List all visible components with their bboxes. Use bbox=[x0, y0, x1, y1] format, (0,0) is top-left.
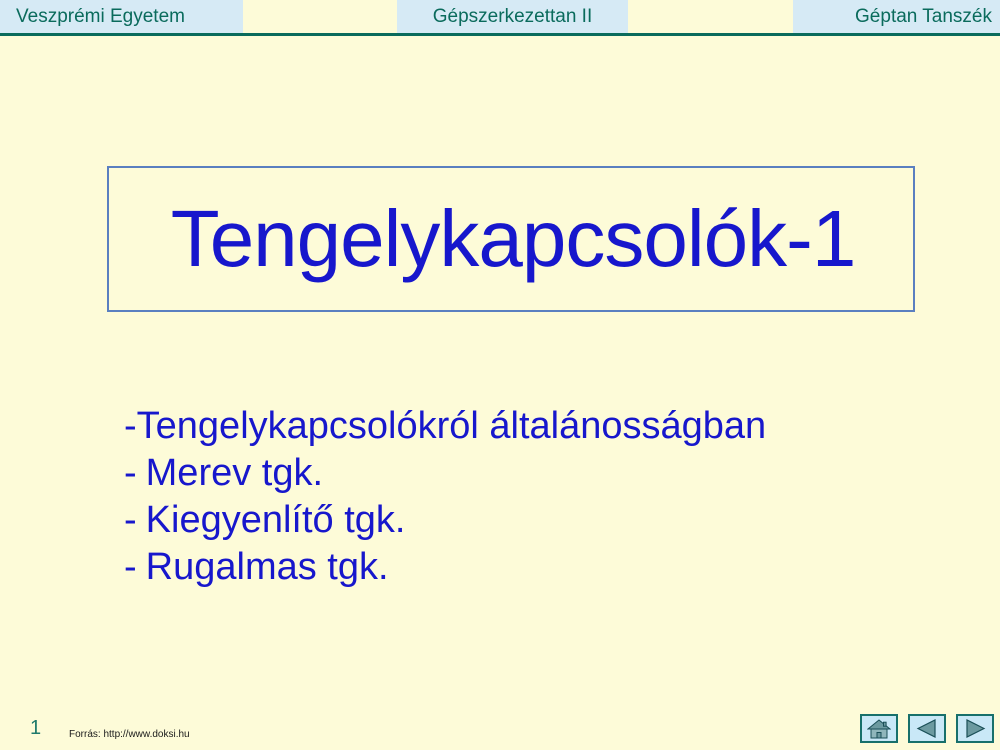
header-university-label: Veszprémi Egyetem bbox=[0, 0, 243, 34]
previous-button[interactable] bbox=[908, 714, 946, 743]
triangle-right-icon bbox=[964, 719, 986, 738]
slide-title-box: Tengelykapcsolók-1 bbox=[107, 166, 915, 312]
page-number: 1 bbox=[30, 717, 41, 739]
bullet-text: Kiegyenlítő tgk. bbox=[146, 497, 406, 544]
list-item: -Merev tgk. bbox=[124, 450, 944, 497]
bullet-text: Tengelykapcsolókról általánosságban bbox=[137, 403, 767, 450]
bullet-dash: - bbox=[124, 497, 146, 544]
header-divider-rule bbox=[0, 33, 1000, 36]
page-title: Tengelykapcsolók-1 bbox=[109, 168, 917, 310]
next-button[interactable] bbox=[956, 714, 994, 743]
slide-bullet-list: -Tengelykapcsolókról általánosságban -Me… bbox=[124, 403, 944, 591]
bullet-dash: - bbox=[124, 544, 146, 591]
list-item: -Tengelykapcsolókról általánosságban bbox=[124, 403, 944, 450]
bullet-text: Merev tgk. bbox=[146, 450, 323, 497]
slide-navigation-bar bbox=[860, 714, 995, 745]
header-course-label: Gépszerkezettan II bbox=[397, 0, 628, 34]
home-button[interactable] bbox=[860, 714, 898, 743]
slide-header: Veszprémi Egyetem Gépszerkezettan II Gép… bbox=[0, 0, 1000, 34]
bullet-dash: - bbox=[124, 403, 137, 450]
bullet-text: Rugalmas tgk. bbox=[146, 544, 389, 591]
home-icon bbox=[867, 719, 891, 739]
header-department-label: Géptan Tanszék bbox=[793, 0, 1000, 34]
list-item: -Kiegyenlítő tgk. bbox=[124, 497, 944, 544]
bullet-dash: - bbox=[124, 450, 146, 497]
triangle-left-icon bbox=[916, 719, 938, 738]
source-note: Forrás: http://www.doksi.hu bbox=[69, 729, 190, 741]
list-item: -Rugalmas tgk. bbox=[124, 544, 944, 591]
